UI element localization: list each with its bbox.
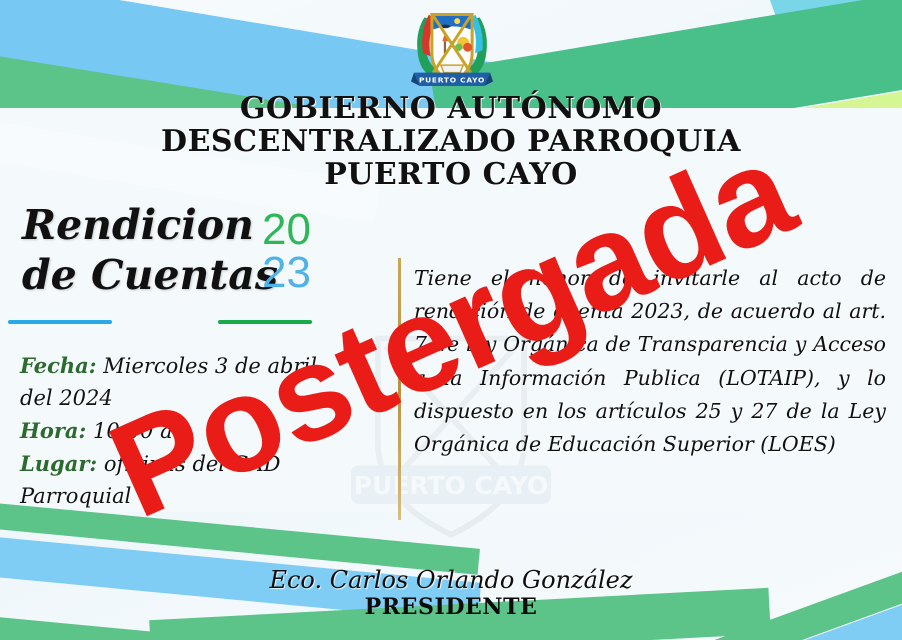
- hora-value: 10:00 am: [93, 419, 193, 443]
- detail-lugar: Lugar: oficinas del GAD Parroquial: [20, 448, 350, 513]
- divider-rule-green: [218, 320, 312, 324]
- event-title-line-2: de Cuentas: [22, 250, 282, 300]
- title-line-3: PUERTO CAYO: [0, 158, 902, 191]
- title-line-2: DESCENTRALIZADO PARROQUIA: [0, 125, 902, 158]
- year-top: 20: [262, 208, 311, 251]
- invitation-paragraph: Tiene el honor de invitarle al acto de r…: [414, 262, 886, 461]
- lugar-label: Lugar:: [20, 451, 97, 476]
- coat-of-arms-emblem: PUERTO CAYO: [411, 4, 493, 92]
- fecha-label: Fecha:: [20, 353, 97, 378]
- event-title: Rendicion de Cuentas: [22, 200, 282, 300]
- title-line-1: GOBIERNO AUTÓNOMO: [0, 92, 902, 125]
- signature-role: PRESIDENTE: [0, 594, 902, 620]
- event-title-line-1: Rendicion: [22, 200, 282, 250]
- year-bottom: 23: [262, 251, 311, 294]
- svg-text:PUERTO CAYO: PUERTO CAYO: [419, 75, 485, 84]
- detail-fecha: Fecha: Miercoles 3 de abril del 2024: [20, 350, 350, 415]
- page-title: GOBIERNO AUTÓNOMO DESCENTRALIZADO PARROQ…: [0, 92, 902, 191]
- signature-name: Eco. Carlos Orlando González: [0, 566, 902, 594]
- vertical-divider-gold: [398, 258, 401, 520]
- divider-rule-blue: [8, 320, 112, 324]
- event-year: 20 23: [262, 208, 311, 294]
- event-details: Fecha: Miercoles 3 de abril del 2024 Hor…: [20, 350, 350, 513]
- invitation-poster: PUERTO CAYO P: [0, 0, 902, 640]
- detail-hora: Hora: 10:00 am: [20, 415, 350, 448]
- hora-label: Hora:: [20, 418, 86, 443]
